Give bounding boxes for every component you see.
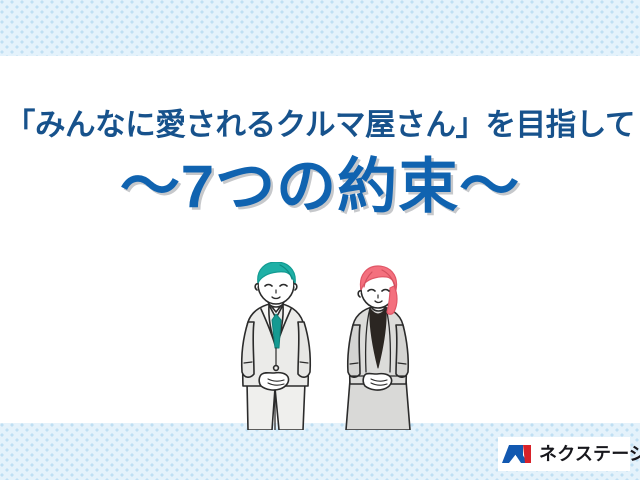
promise-banner: 「みんなに愛されるクルマ屋さん」を目指して 〜7つの約束〜 xyxy=(0,0,640,480)
headline-block: 「みんなに愛されるクルマ屋さん」を目指して 〜7つの約束〜 xyxy=(0,110,640,217)
two-staff-bowing-illustration xyxy=(228,262,432,430)
headline-primary: 「みんなに愛されるクルマ屋さん」を目指して xyxy=(0,110,640,141)
nextage-n-mark-icon xyxy=(502,443,532,465)
male-staff-figure xyxy=(242,262,311,430)
top-dotted-band xyxy=(0,0,640,56)
headline-secondary: 〜7つの約束〜 xyxy=(0,157,640,217)
female-staff-figure xyxy=(346,266,410,430)
nextage-logo: ネクステージ xyxy=(498,437,630,471)
nextage-wordmark: ネクステージ xyxy=(539,445,640,463)
